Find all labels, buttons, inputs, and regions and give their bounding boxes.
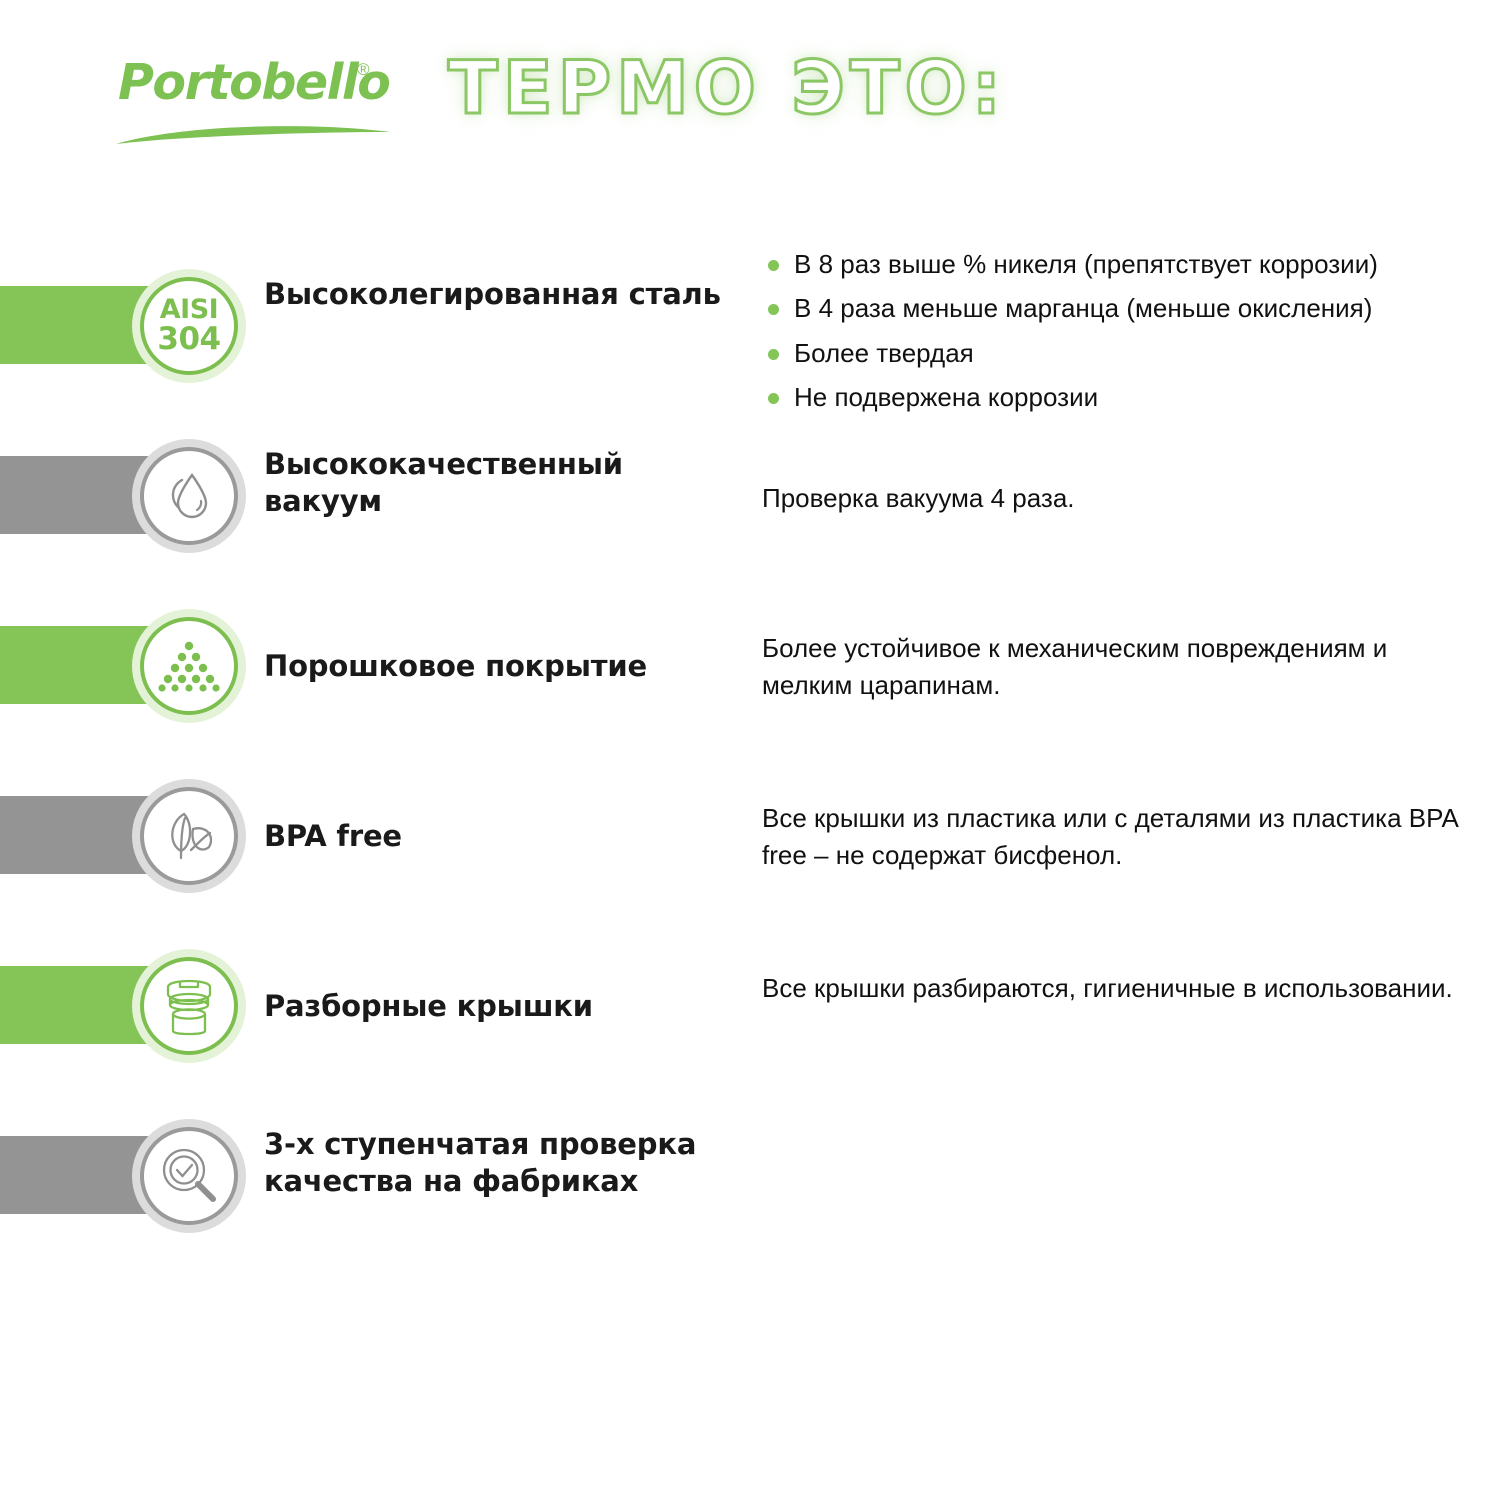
magnifier-check-icon <box>140 1127 238 1225</box>
aisi-304-badge-icon: AISI 304 <box>140 277 238 375</box>
powder-dots-icon <box>140 617 238 715</box>
feature-title: Высоколегированная сталь <box>264 276 734 313</box>
two-leaves-icon <box>140 787 238 885</box>
aisi-grade: 304 <box>157 324 220 356</box>
page-header: Portobello ® ТЕРМО ЭТО: <box>0 0 1500 210</box>
logo-wordmark: Portobello <box>118 58 389 107</box>
feature-description: Проверка вакуума 4 раза. <box>762 480 1462 517</box>
portobello-swoosh-icon <box>114 120 394 146</box>
aisi-label: AISI <box>157 296 220 324</box>
feature-description: Более устойчивое к механическим поврежде… <box>762 630 1462 704</box>
feature-row-steel: AISI 304 Высоколегированная сталь В 8 ра… <box>0 228 1500 398</box>
page-title: ТЕРМО ЭТО: <box>448 52 1006 125</box>
feature-title: 3-х ступенчатая проверка качества на фаб… <box>264 1126 734 1200</box>
feature-title: Разборные крышки <box>264 988 734 1025</box>
registered-trademark-icon: ® <box>357 60 370 80</box>
feature-title: Высококачественный вакуум <box>264 446 734 520</box>
list-item: В 8 раз выше % никеля (препятствует корр… <box>762 246 1482 283</box>
feature-title: BPA free <box>264 818 734 855</box>
water-drop-icon <box>140 447 238 545</box>
feature-row-bpa-free: BPA free Все крышки из пластика или с де… <box>0 738 1500 908</box>
feature-row-detachable-lids: Разборные крышки Все крышки разбираются,… <box>0 908 1500 1078</box>
feature-title: Порошковое покрытие <box>264 648 734 685</box>
list-item: Более твердая <box>762 335 1482 372</box>
portobello-logo: Portobello ® <box>118 58 388 158</box>
list-item: В 4 раза меньше марганца (меньше окислен… <box>762 290 1482 327</box>
feature-row-quality-check: 3-х ступенчатая проверка качества на фаб… <box>0 1078 1500 1248</box>
feature-row-powder-coating: Порошковое покрытие Более устойчивое к м… <box>0 568 1500 738</box>
detachable-lid-icon <box>140 957 238 1055</box>
feature-description: Все крышки разбираются, гигиеничные в ис… <box>762 970 1462 1007</box>
feature-description: Все крышки из пластика или с деталями из… <box>762 800 1462 874</box>
feature-row-vacuum: Высококачественный вакуум Проверка вакуу… <box>0 398 1500 568</box>
